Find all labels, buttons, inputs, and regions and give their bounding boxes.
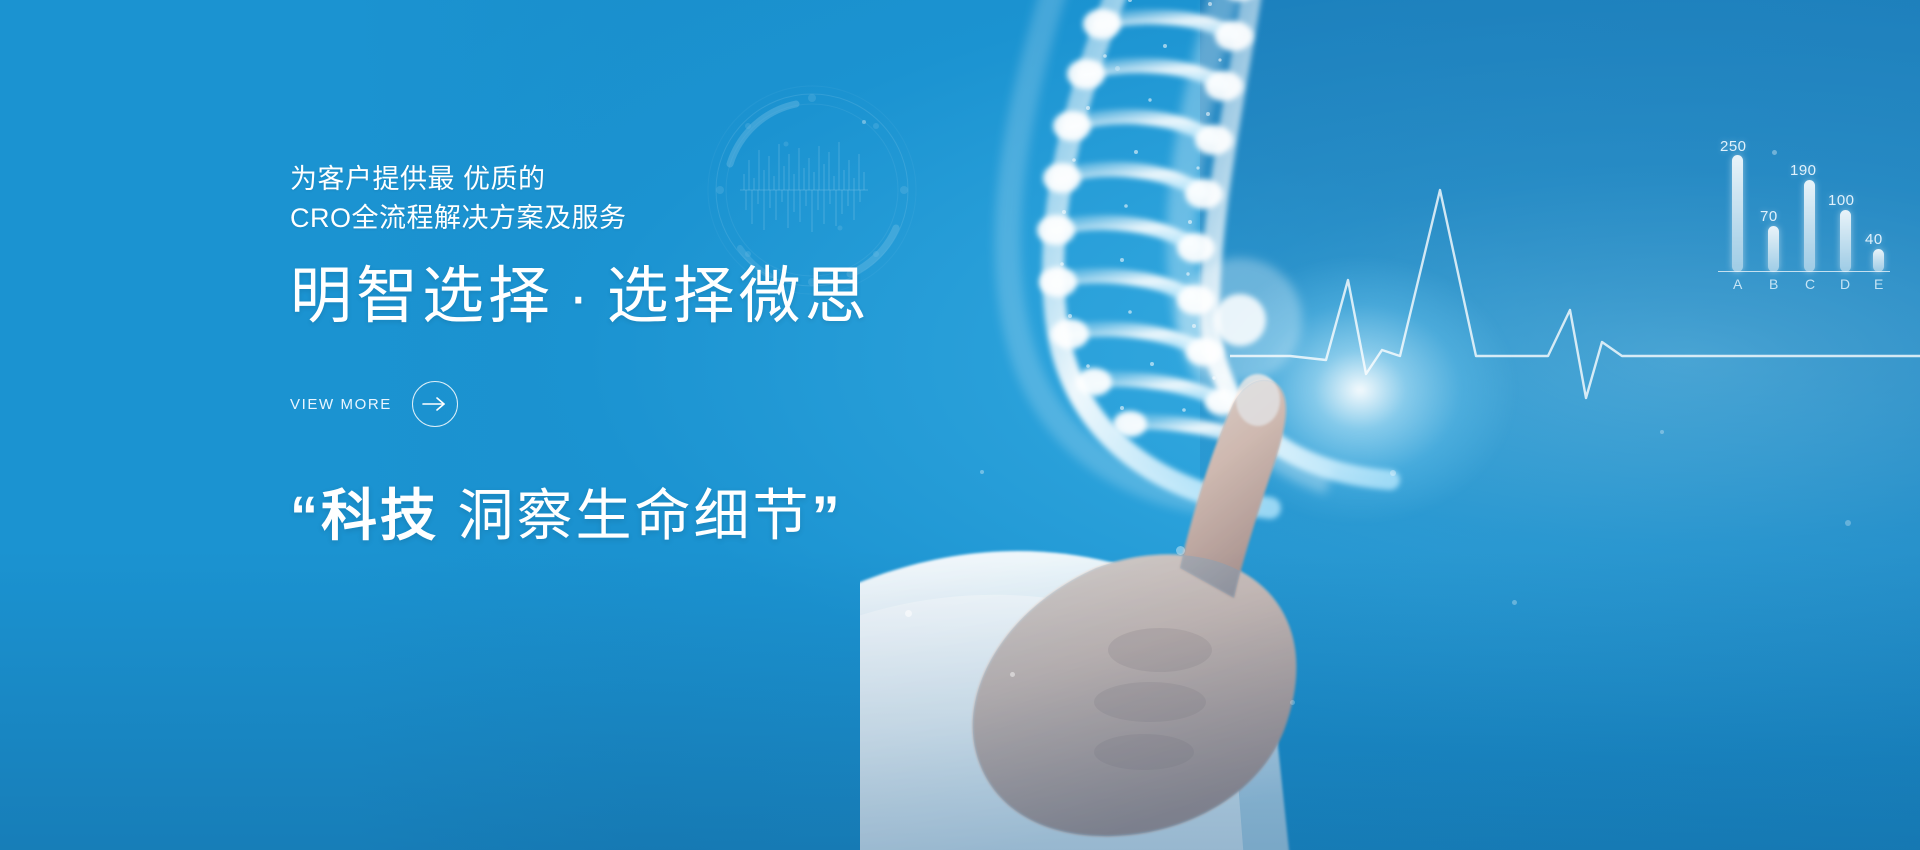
chart-value-e: 40 xyxy=(1865,231,1883,248)
hero-headline: 明智选择·选择微思 xyxy=(290,264,1050,331)
chart-category-e: E xyxy=(1874,276,1884,292)
hero-copy: 为客户提供最 优质的 CRO全流程解决方案及服务 明智选择·选择微思 VIEW … xyxy=(290,160,1050,547)
chart-plot-area: 250 70 190 100 40 A B C D E xyxy=(1718,150,1890,272)
quote-emphasis: 科技 xyxy=(321,484,439,547)
chart-category-c: C xyxy=(1805,276,1816,292)
chart-value-a: 250 xyxy=(1720,138,1747,155)
hero-quote: “科技 洞察生命细节” xyxy=(290,485,1050,547)
quote-rest: 洞察生命细节 xyxy=(439,484,812,547)
chart-value-b: 70 xyxy=(1760,208,1778,225)
chart-bar-e xyxy=(1873,249,1884,272)
chart-bar-c xyxy=(1804,180,1815,272)
chart-bar-b xyxy=(1768,226,1779,272)
chart-category-b: B xyxy=(1769,276,1779,292)
background-bottom-shade xyxy=(0,550,1920,850)
chart-bar-d xyxy=(1840,210,1851,272)
chart-x-axis xyxy=(1718,271,1890,272)
headline-separator: · xyxy=(568,262,593,331)
arrow-right-icon[interactable] xyxy=(412,381,458,427)
chart-value-d: 100 xyxy=(1828,192,1855,209)
bar-chart: 250 70 190 100 40 A B C D E xyxy=(1718,150,1908,330)
chart-category-axis: A B C D E xyxy=(1718,276,1890,296)
chart-bar-a xyxy=(1732,155,1743,272)
hero-banner: 250 70 190 100 40 A B C D E 为客户 xyxy=(0,0,1920,850)
view-more-label: VIEW MORE xyxy=(290,396,392,413)
chart-category-a: A xyxy=(1733,276,1743,292)
headline-part-right: 选择微思 xyxy=(607,262,871,331)
quote-close-mark: ” xyxy=(812,484,843,547)
chart-category-d: D xyxy=(1840,276,1851,292)
view-more-button[interactable]: VIEW MORE xyxy=(290,381,458,427)
quote-open-mark: “ xyxy=(290,484,321,547)
chart-value-c: 190 xyxy=(1790,162,1817,179)
hero-subline-1: 为客户提供最 优质的 xyxy=(290,160,1050,199)
headline-part-left: 明智选择 xyxy=(290,262,554,331)
hero-subline-2: CRO全流程解决方案及服务 xyxy=(290,199,1050,238)
